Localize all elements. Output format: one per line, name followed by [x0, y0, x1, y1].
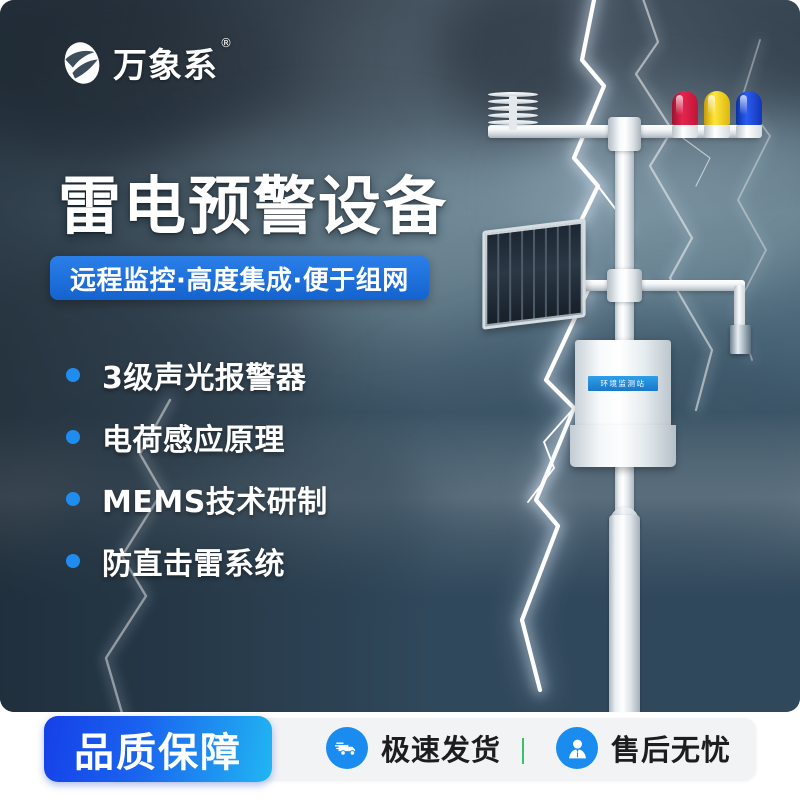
registered-mark: ®: [220, 36, 233, 50]
page-title: 雷电预警设备: [58, 156, 448, 247]
service-fast-shipping[interactable]: 极速发货: [326, 727, 501, 769]
feature-label: 防直击雷系统: [102, 539, 285, 583]
subtitle-badge: 远程监控·高度集成·便于组网: [50, 256, 429, 300]
yellow-alarm-light: [704, 91, 730, 138]
trust-bar: 品质保障 极速发货: [44, 716, 756, 782]
customer-service-icon: [556, 727, 598, 769]
feature-label: 3级声光报警器: [102, 353, 306, 397]
feature-label: 电荷感应原理: [102, 415, 285, 459]
list-item: 电荷感应原理: [66, 406, 446, 468]
list-item: 3级声光报警器: [66, 344, 446, 406]
bullet-dot-icon: [66, 554, 80, 568]
sensor-drop-arm: [734, 285, 745, 327]
brand-name-text: 万象系: [113, 46, 218, 86]
control-enclosure-lower: [570, 425, 676, 467]
list-item: MEMS技术研制: [66, 468, 446, 530]
brand-logo: 万象系 ®: [60, 38, 218, 87]
leaf-swirl-mark-icon: [60, 40, 104, 86]
service-label: 极速发货: [381, 727, 501, 769]
truck-icon: [326, 727, 368, 769]
upper-pole-joint: [608, 117, 641, 151]
storm-background: 环境监测站 万象系 ® 雷电预警设备 远程监控·高度集成·便于组网: [0, 0, 800, 712]
mounting-pole-lower: [609, 515, 640, 712]
red-alarm-light: [672, 91, 698, 138]
blue-alarm-light: [736, 91, 762, 138]
service-divider: [522, 738, 524, 764]
rain-gauge-sensor: [730, 325, 751, 354]
feature-list: 3级声光报警器 电荷感应原理 MEMS技术研制 防直击雷系统: [66, 344, 446, 592]
bullet-dot-icon: [66, 492, 80, 506]
quality-guarantee-badge[interactable]: 品质保障: [44, 716, 272, 782]
service-after-sales[interactable]: 售后无忧: [556, 727, 731, 769]
feature-label: MEMS技术研制: [102, 477, 328, 521]
service-label: 售后无忧: [611, 727, 731, 769]
list-item: 防直击雷系统: [66, 530, 446, 592]
lightning-warning-station: 环境监测站: [470, 95, 790, 695]
lower-pole-joint: [607, 269, 642, 302]
enclosure-label: 环境监测站: [588, 376, 658, 391]
bullet-dot-icon: [66, 368, 80, 382]
product-poster: 环境监测站 万象系 ® 雷电预警设备 远程监控·高度集成·便于组网: [0, 0, 800, 800]
bullet-dot-icon: [66, 430, 80, 444]
radiation-shield-sensor: [488, 92, 538, 132]
solar-panel: [482, 218, 585, 329]
brand-name: 万象系 ®: [113, 38, 218, 87]
